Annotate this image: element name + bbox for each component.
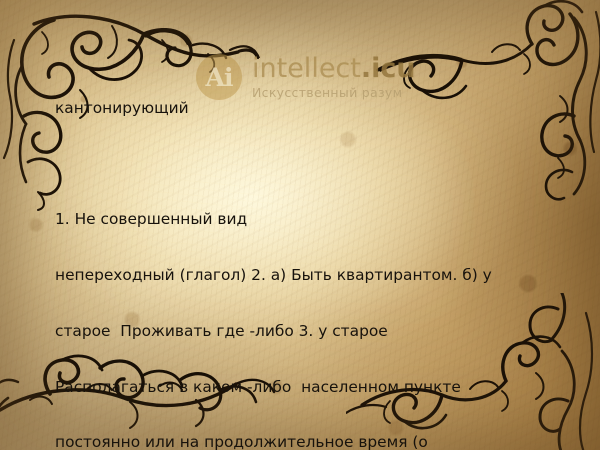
article-line: непереходный (глагол) 2. а) Быть квартир… <box>55 266 555 285</box>
article-body: 1. Не совершенный вид непереходный (глаг… <box>55 173 555 450</box>
article-line: постоянно или на продолжительное время (… <box>55 433 555 450</box>
article-line: старое Проживать где -либо 3. у старое <box>55 322 555 341</box>
article-line: Располагаться в каком -либо населенном п… <box>55 378 555 397</box>
article-line: 1. Не совершенный вид <box>55 210 555 229</box>
headword: кантонирующий <box>55 99 555 118</box>
slide-canvas: Ai intellect.icu Искусственный разум кан… <box>0 0 600 450</box>
dictionary-article: кантонирующий 1. Не совершенный вид непе… <box>55 62 555 450</box>
